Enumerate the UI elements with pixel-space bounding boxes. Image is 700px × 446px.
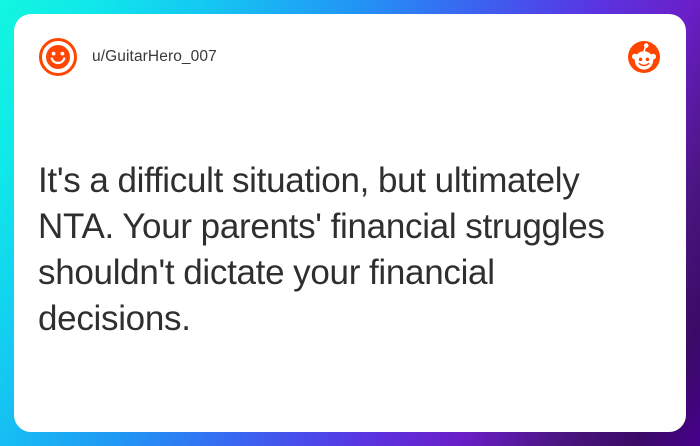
gradient-background: u/GuitarHero_007 It's a difficult situat… [0,0,700,446]
card-header: u/GuitarHero_007 [14,14,686,100]
comment-text: It's a difficult situation, but ultimate… [38,158,656,342]
reddit-comment-card: u/GuitarHero_007 It's a difficult situat… [14,14,686,432]
smiley-face-avatar-icon[interactable] [38,37,78,77]
username-label: u/GuitarHero_007 [92,48,217,66]
card-body: It's a difficult situation, but ultimate… [14,100,686,432]
reddit-snoo-logo-icon[interactable] [628,41,660,73]
